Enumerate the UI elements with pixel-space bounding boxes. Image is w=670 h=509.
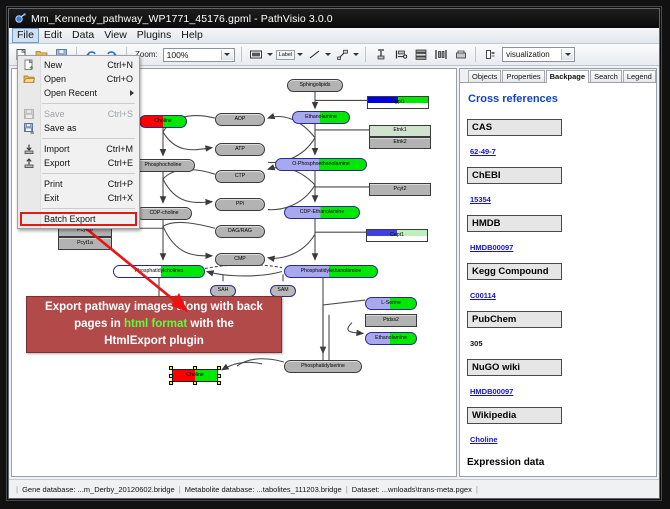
callout-line-1: Export pathway images along with back — [45, 301, 263, 313]
status-gene-database: Gene database: ...m_Derby_20120602.bridg… — [22, 485, 175, 494]
toolbar-divider-3 — [241, 47, 242, 62]
selection-handle-n[interactable] — [193, 366, 197, 370]
selection-handle-ne[interactable] — [217, 366, 221, 370]
menu-item-save: Save Ctrl+S — [18, 107, 139, 121]
menu-item-new[interactable]: New Ctrl+N — [18, 58, 139, 72]
pathway-node-phosphatidylcholines[interactable]: Phosphatidylcholines — [113, 265, 205, 278]
xref-header-pubchem: PubChem — [467, 311, 562, 328]
menu-item-save-label: Save — [40, 109, 108, 119]
shape-tool-chevron-down-icon[interactable] — [267, 53, 273, 56]
menu-item-open[interactable]: Open Ctrl+O — [18, 72, 139, 86]
screenshot-root: Mm_Kennedy_pathway_WP1771_45176.gpml - P… — [0, 0, 670, 509]
menu-item-print[interactable]: Print Ctrl+P — [18, 177, 139, 191]
save-as-icon — [22, 122, 35, 135]
selection-handle-se[interactable] — [217, 381, 221, 385]
tab-properties[interactable]: Properties — [502, 70, 544, 82]
xref-header-hmdb: HMDB — [467, 215, 562, 232]
cross-references-title: Cross references — [468, 93, 649, 105]
pathway-node-ppi[interactable]: PPi — [215, 198, 265, 211]
menu-separator-3 — [42, 173, 135, 174]
save-disk-icon — [22, 108, 35, 121]
xref-value-wikipedia[interactable]: Choline — [470, 435, 498, 444]
pathway-node-etnk2[interactable]: Etnk2 — [369, 137, 431, 149]
pathway-node-pcyt2[interactable]: Pcyt2 — [369, 183, 431, 196]
menu-file[interactable]: File — [12, 28, 39, 43]
menu-item-new-label: New — [40, 60, 107, 70]
menu-item-save-as[interactable]: Save as — [18, 121, 139, 135]
xref-value-nugo-wiki[interactable]: HMDB00097 — [470, 387, 513, 396]
shape-tool-group[interactable] — [248, 46, 273, 63]
menu-edit[interactable]: Edit — [39, 28, 67, 43]
tab-legend[interactable]: Legend — [623, 70, 656, 82]
menu-item-open-recent[interactable]: Open Recent — [18, 86, 139, 100]
xref-header-cas: CAS — [467, 119, 562, 136]
menu-item-exit-accel: Ctrl+X — [108, 193, 139, 203]
import-icon — [22, 143, 35, 156]
status-divider-0: | — [16, 485, 18, 494]
pathway-node-choline-selected[interactable]: Choline — [172, 369, 218, 382]
menu-item-import-accel: Ctrl+M — [106, 144, 139, 154]
backpage-content: Cross references CAS 62-49-7 ChEBI 15354… — [460, 83, 656, 476]
tab-objects[interactable]: Objects — [468, 70, 501, 82]
pathway-node-etnk1[interactable]: Etnk1 — [369, 125, 431, 137]
label-tool-group[interactable]: Label — [276, 50, 303, 60]
callout-line-2-pre: pages in — [74, 318, 124, 330]
menu-item-open-accel: Ctrl+O — [107, 74, 139, 84]
xref-value-hmdb[interactable]: HMDB00097 — [470, 243, 513, 252]
pathway-node-cept1[interactable]: Cept1 — [366, 229, 428, 242]
menu-item-exit[interactable]: Exit Ctrl+X — [18, 191, 139, 205]
status-dataset: Dataset: ...wnloads\trans-meta.pgex — [352, 485, 472, 494]
menu-item-export-accel: Ctrl+E — [108, 158, 139, 168]
menu-separator-4 — [42, 208, 135, 209]
status-divider-1: | — [179, 485, 181, 494]
selection-handle-e[interactable] — [217, 374, 221, 378]
menu-item-import[interactable]: Import Ctrl+M — [18, 142, 139, 156]
status-bar: | Gene database: ...m_Derby_20120602.bri… — [9, 479, 659, 498]
menu-item-batch-export-label: Batch Export — [40, 214, 133, 224]
menu-help[interactable]: Help — [176, 28, 208, 43]
status-divider-2: | — [346, 485, 348, 494]
pathway-node-ethanolamine-2[interactable]: Ethanolamine — [365, 332, 417, 345]
pathway-node-choline[interactable]: Choline — [139, 115, 187, 128]
pathway-node-phosphatidylserine[interactable]: Phosphatidylserine — [284, 360, 362, 373]
menu-item-batch-export[interactable]: Batch Export — [18, 212, 139, 226]
pathway-node-l-serine[interactable]: L-Serine — [365, 297, 417, 310]
label-tool-chevron-down-icon[interactable] — [297, 53, 303, 56]
menu-item-new-accel: Ctrl+N — [107, 60, 139, 70]
side-panel-tabs[interactable]: Objects Properties Backpage Search Legen… — [460, 69, 656, 83]
submenu-arrow-icon — [130, 90, 134, 96]
pathway-node-o-phosphoethanolamine[interactable]: O-Phosphoethanolamine — [275, 158, 367, 171]
line-tool-icon[interactable] — [306, 46, 323, 63]
status-divider-3: | — [476, 485, 478, 494]
pathway-node-cdp-choline[interactable]: CDP-choline — [136, 207, 192, 220]
zoom-combo[interactable]: 100% — [163, 48, 235, 62]
side-panel-inner: Objects Properties Backpage Search Legen… — [459, 68, 657, 477]
group-icon[interactable] — [452, 46, 469, 63]
xref-header-kegg-compound: Kegg Compound — [467, 263, 562, 280]
xref-value-chebi[interactable]: 15354 — [470, 195, 491, 204]
pathway-node-cdp-ethanolamine[interactable]: CDP-Ethanolamine — [284, 206, 360, 219]
chevron-down-icon[interactable] — [221, 50, 233, 60]
interaction-tool-icon[interactable] — [334, 46, 351, 63]
title-bar: Mm_Kennedy_pathway_WP1771_45176.gpml - P… — [9, 9, 659, 28]
line-tool-group[interactable] — [306, 46, 331, 63]
visualization-combo[interactable]: visualization — [502, 47, 575, 62]
side-panel: Objects Properties Backpage Search Legen… — [459, 68, 657, 477]
menu-item-exit-label: Exit — [40, 193, 108, 203]
pathway-node-atp[interactable]: ATP — [215, 143, 265, 156]
selection-handle-sw[interactable] — [169, 381, 173, 385]
selection-handle-w[interactable] — [169, 374, 173, 378]
menu-item-batch-export-wrap[interactable]: Batch Export — [18, 212, 139, 226]
menu-item-import-label: Import — [40, 144, 106, 154]
pathway-node-adp[interactable]: ADP — [215, 113, 265, 126]
pathway-node-pcyt1a[interactable]: Pcyt1a — [58, 237, 112, 250]
selection-handle-s[interactable] — [193, 381, 197, 385]
menu-item-open-recent-label: Open Recent — [40, 88, 139, 98]
pathvisio-app-icon — [14, 13, 26, 25]
menu-item-export-label: Export — [40, 158, 108, 168]
xref-header-nugo-wiki: NuGO wiki — [467, 359, 562, 376]
expression-data-title: Expression data — [467, 457, 649, 468]
tab-backpage[interactable]: Backpage — [546, 70, 589, 83]
file-menu-dropdown[interactable]: New Ctrl+N Open Ctrl+O Open Recent Save — [17, 55, 140, 229]
menu-item-save-accel: Ctrl+S — [108, 109, 139, 119]
menu-separator-1 — [42, 103, 135, 104]
line-tool-chevron-down-icon[interactable] — [325, 53, 331, 56]
pathvisio-window: Mm_Kennedy_pathway_WP1771_45176.gpml - P… — [8, 8, 660, 499]
export-icon — [22, 157, 35, 170]
menu-item-export[interactable]: Export Ctrl+E — [18, 156, 139, 170]
pathway-node-phosphocholine[interactable]: Phosphocholine — [131, 159, 195, 172]
menu-item-print-accel: Ctrl+P — [108, 179, 139, 189]
callout-line-2-post: with the — [187, 318, 234, 330]
label-tool-icon[interactable]: Label — [276, 50, 295, 60]
menu-view[interactable]: View — [99, 28, 132, 43]
xref-value-cas[interactable]: 62-49-7 — [470, 147, 496, 156]
align-left-icon[interactable] — [392, 46, 409, 63]
interaction-tool-group[interactable] — [334, 46, 359, 63]
pathway-node-cmp[interactable]: CMP — [215, 253, 265, 266]
callout-line-3: HtmlExport plugin — [104, 335, 204, 347]
interaction-tool-chevron-down-icon[interactable] — [353, 53, 359, 56]
tab-search[interactable]: Search — [590, 70, 622, 82]
zoom-value: 100% — [167, 50, 189, 60]
pathway-node-phosphatidylethanolamine[interactable]: Phosphatidylethanolamine — [284, 265, 378, 278]
pathway-node-ethanolamine-1[interactable]: Ethanolamine — [292, 111, 350, 124]
callout-highlight: html format — [124, 318, 187, 330]
xref-header-wikipedia: Wikipedia — [467, 407, 562, 424]
status-metabolite-database: Metabolite database: ...tabolites_111203… — [185, 485, 342, 494]
pathway-node-sgpl1[interactable]: Sgpl1 — [367, 96, 429, 109]
toolbar-divider-5 — [475, 47, 476, 62]
menu-data[interactable]: Data — [67, 28, 99, 43]
visualization-value: visualization — [506, 50, 550, 59]
distribute-icon[interactable] — [432, 46, 449, 63]
menu-bar[interactable]: File Edit Data View Plugins Help — [9, 28, 659, 44]
window-title: Mm_Kennedy_pathway_WP1771_45176.gpml - P… — [31, 13, 333, 25]
color-legend-icon[interactable] — [482, 46, 499, 63]
menu-item-open-label: Open — [40, 74, 107, 84]
menu-plugins[interactable]: Plugins — [132, 28, 176, 43]
xref-header-chebi: ChEBI — [467, 167, 562, 184]
shape-tool-icon[interactable] — [248, 46, 265, 63]
annotation-callout: Export pathway images along with back pa… — [26, 296, 282, 353]
menu-item-print-label: Print — [40, 179, 108, 189]
open-folder-icon — [22, 73, 35, 86]
menu-item-save-as-label: Save as — [40, 123, 133, 133]
toolbar-divider-4 — [365, 47, 366, 62]
selection-handle-nw[interactable] — [169, 366, 173, 370]
pathway-node-ptdss2[interactable]: Ptdss2 — [365, 314, 417, 327]
xref-value-pubchem: 305 — [470, 339, 483, 348]
pathway-node-ctp[interactable]: CTP — [215, 170, 265, 183]
visualization-chevron-down-icon[interactable] — [561, 49, 573, 60]
pathway-node-sphingolipids[interactable]: Sphingolipids — [287, 79, 343, 92]
stack-icon[interactable] — [412, 46, 429, 63]
xref-value-kegg-compound[interactable]: C00114 — [470, 291, 496, 300]
align-top-icon[interactable] — [372, 46, 389, 63]
new-file-icon — [22, 59, 35, 72]
pathway-node-dag-rag[interactable]: DAG/RAG — [215, 225, 265, 238]
menu-separator-2 — [42, 138, 135, 139]
